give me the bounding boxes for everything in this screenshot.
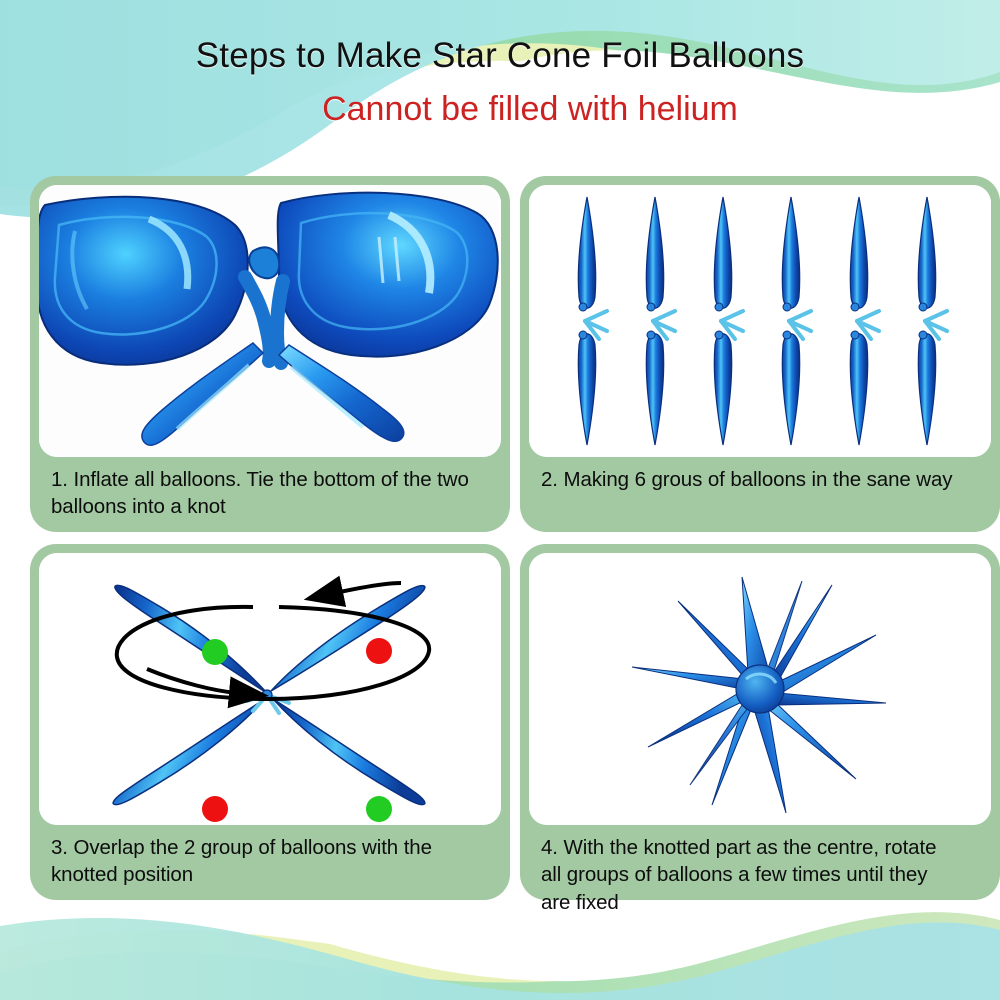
overlap-two-groups-x-arrangement	[39, 553, 501, 825]
step-2-image	[529, 185, 991, 457]
header: Steps to Make Star Cone Foil Balloons Ca…	[0, 0, 1000, 129]
marker-red-lower-left	[202, 796, 228, 822]
step-1-image	[39, 185, 501, 457]
step-3-image	[39, 553, 501, 825]
two-round-foil-balloons-knotted-photo	[39, 185, 501, 457]
steps-grid: 1. Inflate all balloons. Tie the bottom …	[0, 176, 1000, 900]
step-3-caption: 3. Overlap the 2 group of balloons with …	[39, 825, 501, 889]
step-2-caption: 2. Making 6 grous of balloons in the san…	[529, 457, 991, 493]
step-4-caption-line-3: are fixed	[541, 889, 1000, 916]
page-title: Steps to Make Star Cone Foil Balloons	[0, 36, 1000, 76]
marker-green-lower-right	[366, 796, 392, 822]
step-1-caption: 1. Inflate all balloons. Tie the bottom …	[39, 457, 501, 521]
finished-star-cone-balloon	[529, 553, 991, 825]
step-4-image	[529, 553, 991, 825]
step-card-4: 4. With the knotted part as the centre, …	[520, 544, 1000, 900]
marker-green-upper-left	[202, 639, 228, 665]
step-4-caption-line-1: 4. With the knotted part as the centre, …	[541, 834, 1000, 861]
page-subtitle-warning: Cannot be filled with helium	[0, 90, 1000, 129]
step-card-1: 1. Inflate all balloons. Tie the bottom …	[30, 176, 510, 532]
step-card-2: 2. Making 6 grous of balloons in the san…	[520, 176, 1000, 532]
marker-red-upper-right	[366, 638, 392, 664]
step-4-caption-line-2: all groups of balloons a few times until…	[541, 861, 1000, 888]
step-card-3: 3. Overlap the 2 group of balloons with …	[30, 544, 510, 900]
six-groups-of-cone-balloons	[529, 185, 991, 457]
step-4-caption: 4. With the knotted part as the centre, …	[529, 825, 1000, 916]
